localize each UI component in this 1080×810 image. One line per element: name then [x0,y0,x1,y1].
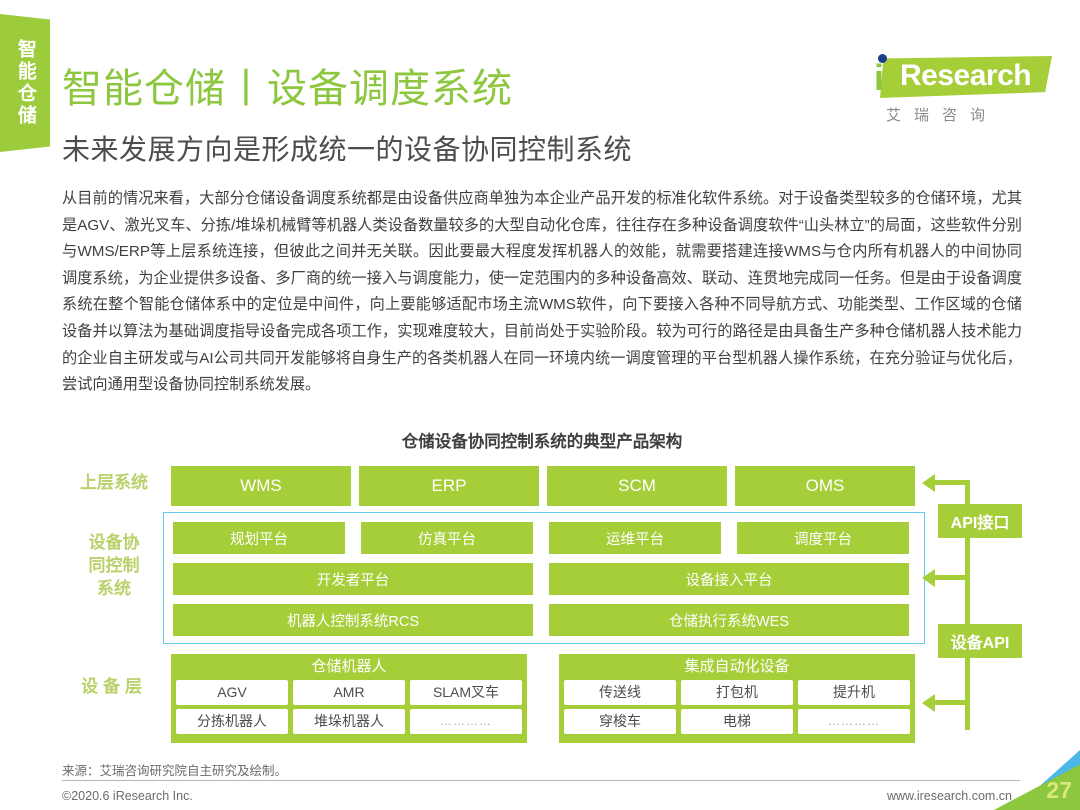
arrow-left-icon [922,569,935,587]
section-tab: 智能仓储 [0,14,50,152]
page-number: 27 [1046,777,1072,804]
row-label-line-3: 系统 [62,578,166,601]
device-cell[interactable]: AGV [176,680,288,705]
device-cell[interactable]: 打包机 [681,680,793,705]
architecture-diagram: 仓储设备协同控制系统的典型产品架构 上层系统 设备协 同控制 系统 设备层 WM… [62,428,1022,758]
connector-branch-middle [934,575,970,580]
row-label-line-2: 同控制 [62,555,166,578]
body-paragraph: 从目前的情况来看，大部分仓储设备调度系统都是由设备供应商单独为本企业产品开发的标… [62,186,1022,399]
core-box[interactable]: 仓储执行系统WES [549,604,909,636]
logo-wordmark: Research [900,59,1031,92]
device-row: 分拣机器人 堆垛机器人 ………… [176,709,522,734]
row-label-upper-system: 上层系统 [62,472,166,495]
service-box[interactable]: 设备接入平台 [549,563,909,595]
device-cell[interactable]: 提升机 [798,680,910,705]
device-group: 仓储机器人 AGV AMR SLAM叉车 分拣机器人 堆垛机器人 ………… [171,654,527,743]
device-group: 集成自动化设备 传送线 打包机 提升机 穿梭车 电梯 ………… [559,654,915,743]
row-label-line-1: 设备协 [62,532,166,555]
device-cell-ellipsis: ………… [798,709,910,734]
footer-divider [62,780,1020,781]
platform-box[interactable]: 运维平台 [549,522,721,554]
source-note: 来源：艾瑞咨询研究院自主研究及绘制。 [62,760,287,779]
upper-system-box[interactable]: OMS [735,466,915,506]
coordination-system-frame: 规划平台 仿真平台 运维平台 调度平台 开发者平台 设备接入平台 机器人控制系统… [163,512,925,644]
connector-branch-top [934,480,970,485]
upper-system-box[interactable]: SCM [547,466,727,506]
slide-page: 智能仓储 智能仓储丨设备调度系统 未来发展方向是形成统一的设备协同控制系统 i … [0,0,1080,810]
page-subtitle: 未来发展方向是形成统一的设备协同控制系统 [62,128,632,168]
device-cell[interactable]: AMR [293,680,405,705]
arrow-left-icon [922,474,935,492]
device-api-label: 设备API [938,624,1022,658]
device-cell[interactable]: 传送线 [564,680,676,705]
api-interface-label: API接口 [938,504,1022,538]
platform-box[interactable]: 规划平台 [173,522,345,554]
copyright-text: ©2020.6 iResearch Inc. [62,789,193,803]
device-cell[interactable]: 电梯 [681,709,793,734]
platform-box[interactable]: 仿真平台 [361,522,533,554]
section-tab-label: 智能仓储 [14,39,36,127]
device-group-title: 集成自动化设备 [564,654,910,680]
device-cell[interactable]: 分拣机器人 [176,709,288,734]
upper-system-box[interactable]: ERP [359,466,539,506]
device-cell[interactable]: SLAM叉车 [410,680,522,705]
logo-chinese-name: 艾瑞咨询 [886,104,998,125]
arrow-left-icon [922,694,935,712]
logo-mark: i Research [858,52,1058,102]
device-row: 穿梭车 电梯 ………… [564,709,910,734]
iresearch-logo: i Research 艾瑞咨询 [858,52,1058,130]
service-box[interactable]: 开发者平台 [173,563,533,595]
device-row: 传送线 打包机 提升机 [564,680,910,705]
upper-system-box[interactable]: WMS [171,466,351,506]
row-label-coordination-system: 设备协 同控制 系统 [62,532,166,601]
connector-branch-bottom [934,700,970,705]
device-cell-ellipsis: ………… [410,709,522,734]
platform-box[interactable]: 调度平台 [737,522,909,554]
logo-letter-i: i [874,60,884,96]
diagram-title: 仓储设备协同控制系统的典型产品架构 [62,428,1022,452]
page-title: 智能仓储丨设备调度系统 [62,56,513,114]
device-group-title: 仓储机器人 [176,654,522,680]
device-row: AGV AMR SLAM叉车 [176,680,522,705]
device-cell[interactable]: 堆垛机器人 [293,709,405,734]
core-box[interactable]: 机器人控制系统RCS [173,604,533,636]
device-cell[interactable]: 穿梭车 [564,709,676,734]
row-label-device-layer: 设备层 [62,676,166,699]
